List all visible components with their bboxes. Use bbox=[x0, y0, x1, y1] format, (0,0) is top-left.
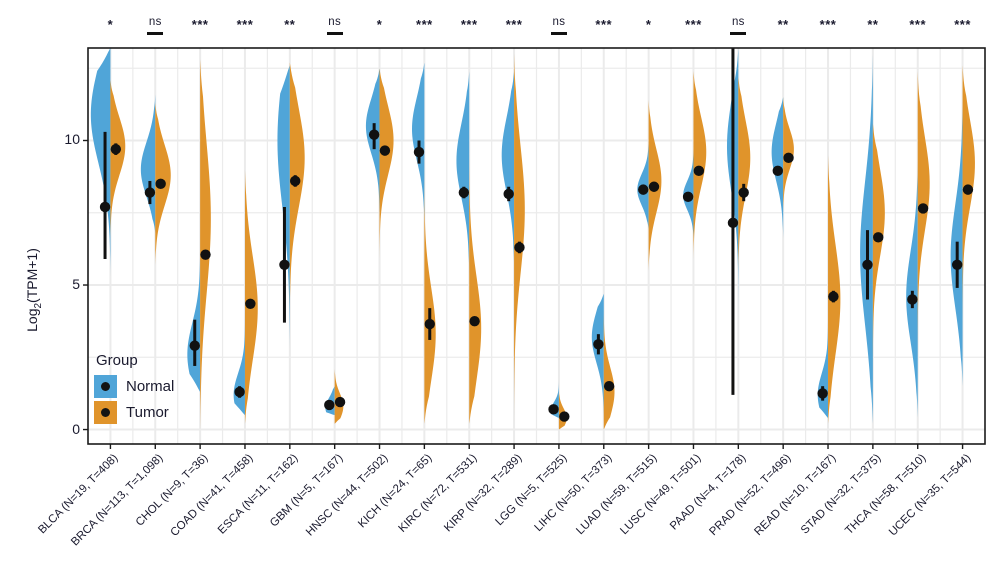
significance-label: *** bbox=[668, 20, 718, 30]
legend-item-tumor[interactable]: Tumor bbox=[94, 401, 174, 424]
significance-label: *** bbox=[893, 20, 943, 30]
plot-canvas bbox=[0, 0, 1000, 585]
significance-label: *** bbox=[803, 20, 853, 30]
mean-point-normal[interactable] bbox=[593, 339, 603, 349]
significance-label: * bbox=[85, 20, 135, 30]
mean-point-normal[interactable] bbox=[190, 341, 200, 351]
legend-item-normal[interactable]: Normal bbox=[94, 375, 174, 398]
legend-dot-icon bbox=[101, 408, 110, 417]
mean-point-tumor[interactable] bbox=[111, 144, 121, 154]
mean-point-normal[interactable] bbox=[683, 192, 693, 202]
legend-dot-icon bbox=[101, 382, 110, 391]
mean-point-normal[interactable] bbox=[952, 260, 962, 270]
mean-point-tumor[interactable] bbox=[694, 166, 704, 176]
mean-point-tumor[interactable] bbox=[649, 182, 659, 192]
significance-label: * bbox=[624, 20, 674, 30]
significance-label: ** bbox=[848, 20, 898, 30]
significance-label: *** bbox=[444, 20, 494, 30]
mean-point-normal[interactable] bbox=[459, 187, 469, 197]
mean-point-tumor[interactable] bbox=[828, 291, 838, 301]
mean-point-tumor[interactable] bbox=[425, 319, 435, 329]
mean-point-normal[interactable] bbox=[324, 400, 334, 410]
significance-label: *** bbox=[399, 20, 449, 30]
mean-point-normal[interactable] bbox=[907, 294, 917, 304]
legend-swatch-tumor bbox=[94, 401, 117, 424]
significance-underline bbox=[730, 32, 746, 35]
mean-point-tumor[interactable] bbox=[469, 316, 479, 326]
mean-point-normal[interactable] bbox=[100, 202, 110, 212]
legend-label-tumor: Tumor bbox=[126, 404, 169, 421]
significance-underline bbox=[327, 32, 343, 35]
significance-underline bbox=[147, 32, 163, 35]
legend: Group Normal Tumor bbox=[94, 352, 174, 427]
mean-point-tumor[interactable] bbox=[200, 249, 210, 259]
mean-point-tumor[interactable] bbox=[290, 176, 300, 186]
significance-label: ** bbox=[265, 20, 315, 30]
legend-swatch-normal bbox=[94, 375, 117, 398]
violin-plot-figure: Log2(TPM+1) Group Normal Tumor 0510BLCA … bbox=[0, 0, 1000, 585]
significance-label: *** bbox=[175, 20, 225, 30]
mean-point-tumor[interactable] bbox=[559, 411, 569, 421]
mean-point-normal[interactable] bbox=[414, 147, 424, 157]
y-axis-title-base: Log bbox=[24, 309, 40, 332]
mean-point-normal[interactable] bbox=[638, 184, 648, 194]
significance-label: ns bbox=[310, 16, 360, 28]
mean-point-tumor[interactable] bbox=[963, 184, 973, 194]
mean-point-normal[interactable] bbox=[234, 387, 244, 397]
mean-point-tumor[interactable] bbox=[335, 397, 345, 407]
significance-label: ns bbox=[534, 16, 584, 28]
y-tick-label: 10 bbox=[30, 131, 80, 147]
significance-label: ** bbox=[758, 20, 808, 30]
significance-label: * bbox=[355, 20, 405, 30]
gridlines bbox=[88, 48, 985, 444]
mean-point-tumor[interactable] bbox=[918, 203, 928, 213]
mean-point-tumor[interactable] bbox=[604, 381, 614, 391]
legend-title: Group bbox=[96, 352, 174, 369]
mean-point-tumor[interactable] bbox=[873, 232, 883, 242]
significance-underline bbox=[551, 32, 567, 35]
mean-point-tumor[interactable] bbox=[739, 187, 749, 197]
mean-point-normal[interactable] bbox=[548, 404, 558, 414]
significance-label: *** bbox=[220, 20, 270, 30]
mean-point-tumor[interactable] bbox=[155, 179, 165, 189]
mean-point-normal[interactable] bbox=[503, 189, 513, 199]
mean-point-normal[interactable] bbox=[728, 218, 738, 228]
y-tick-label: 0 bbox=[30, 421, 80, 437]
significance-label: *** bbox=[938, 20, 988, 30]
mean-point-normal[interactable] bbox=[817, 388, 827, 398]
mean-point-tumor[interactable] bbox=[783, 153, 793, 163]
mean-point-tumor[interactable] bbox=[245, 299, 255, 309]
y-tick-label: 5 bbox=[30, 276, 80, 292]
legend-label-normal: Normal bbox=[126, 378, 174, 395]
mean-point-normal[interactable] bbox=[862, 260, 872, 270]
significance-label: ns bbox=[130, 16, 180, 28]
significance-label: *** bbox=[489, 20, 539, 30]
mean-point-normal[interactable] bbox=[279, 260, 289, 270]
mean-point-tumor[interactable] bbox=[380, 145, 390, 155]
mean-point-tumor[interactable] bbox=[514, 242, 524, 252]
mean-point-normal[interactable] bbox=[773, 166, 783, 176]
significance-label: ns bbox=[713, 16, 763, 28]
significance-label: *** bbox=[579, 20, 629, 30]
y-axis-title-subscript: 2 bbox=[33, 303, 44, 309]
mean-point-normal[interactable] bbox=[145, 187, 155, 197]
mean-point-normal[interactable] bbox=[369, 130, 379, 140]
